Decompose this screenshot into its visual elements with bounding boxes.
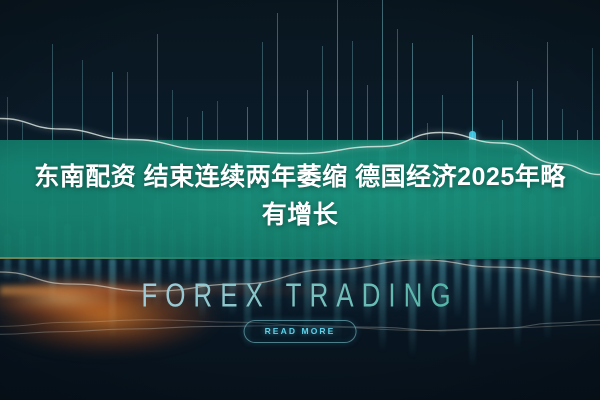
read-more-button[interactable]: READ MORE — [244, 320, 357, 343]
page-title: 东南配资 结束连续两年萎缩 德国经济2025年略 有增长 — [0, 158, 600, 234]
headline-line-1: 东南配资 结束连续两年萎缩 德国经济2025年略 — [0, 158, 600, 196]
headline-line-2: 有增长 — [0, 196, 600, 234]
forex-trading-banner: 东南配资 结束连续两年萎缩 德国经济2025年略 有增长 FOREX TRADI… — [0, 0, 600, 400]
brand-wordmark: FOREX TRADING — [0, 276, 600, 316]
